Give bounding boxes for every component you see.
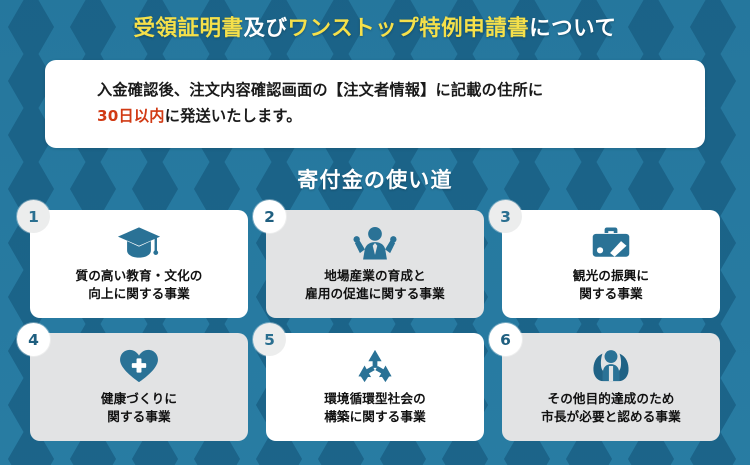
heart-plus-icon [118,346,160,386]
card-text-line-2: 市長が必要と認める事業 [541,408,681,426]
notice-text-block: 入金確認後、注文内容確認画面の【注文者情報】に記載の住所に 30日以内に発送いた… [97,77,685,129]
card-number-badge-4: 4 [17,323,50,356]
card-text-line-1: 環境循環型社会の [324,390,426,408]
notice-line-1: 入金確認後、注文内容確認画面の【注文者情報】に記載の住所に [97,77,685,103]
person-open-arms-icon [591,346,631,386]
usage-cards-grid: 1 質の高い教育・文化の 向上に関する事業 2 [30,210,720,441]
notice-emphasis-30days: 30日以内 [97,107,165,125]
recycle-icon [355,346,395,386]
usage-card-5[interactable]: 5 環境循環型社会の 構築に関する事業 [266,333,484,441]
card-text-3: 観光の振興に 関する事業 [573,267,649,302]
suitcase-icon [590,223,632,263]
notice-line-2-rest: に発送いたします。 [165,107,302,125]
person-raising-arms-icon [353,223,397,263]
usage-card-4[interactable]: 4 健康づくりに 関する事業 [30,333,248,441]
card-text-line-1: 健康づくりに [101,390,177,408]
card-text-line-1: 地場産業の育成と [305,267,445,285]
card-text-5: 環境循環型社会の 構築に関する事業 [324,390,426,425]
usage-card-1[interactable]: 1 質の高い教育・文化の 向上に関する事業 [30,210,248,318]
infographic-page: 受領証明書及びワンストップ特例申請書について 入金確認後、注文内容確認画面の【注… [0,0,750,465]
section-heading: 寄付金の使い道 [0,164,750,194]
card-text-line-1: 観光の振興に [573,267,649,285]
title-segment-2: 及び [244,16,288,41]
card-text-line-2: 関する事業 [573,285,649,303]
card-text-line-2: 関する事業 [101,408,177,426]
title-segment-3: ワンストップ特例申請書 [288,16,530,41]
card-text-6: その他目的達成のため 市長が必要と認める事業 [541,390,681,425]
card-text-2: 地場産業の育成と 雇用の促進に関する事業 [305,267,445,302]
usage-card-6[interactable]: 6 その他目的達成のため 市長が必要と認める事業 [502,333,720,441]
card-text-line-1: その他目的達成のため [541,390,681,408]
graduation-cap-icon [117,223,161,263]
notice-card: 入金確認後、注文内容確認画面の【注文者情報】に記載の住所に 30日以内に発送いた… [45,60,705,148]
card-text-line-1: 質の高い教育・文化の [76,267,203,285]
card-number-badge-5: 5 [253,323,286,356]
card-text-4: 健康づくりに 関する事業 [101,390,177,425]
card-text-1: 質の高い教育・文化の 向上に関する事業 [76,267,203,302]
usage-card-2[interactable]: 2 地場産業の育成と 雇用の促進に関する事業 [266,210,484,318]
page-title: 受領証明書及びワンストップ特例申請書について [0,14,750,44]
card-text-line-2: 雇用の促進に関する事業 [305,285,445,303]
card-number-badge-6: 6 [489,323,522,356]
usage-card-3[interactable]: 3 観光の振興に 関する事業 [502,210,720,318]
notice-line-2: 30日以内に発送いたします。 [97,103,685,129]
card-number-badge-3: 3 [489,200,522,233]
title-segment-4: について [529,16,616,41]
card-number-badge-1: 1 [17,200,50,233]
card-number-badge-2: 2 [253,200,286,233]
card-text-line-2: 向上に関する事業 [76,285,203,303]
card-text-line-2: 構築に関する事業 [324,408,426,426]
title-segment-1: 受領証明書 [134,16,244,41]
